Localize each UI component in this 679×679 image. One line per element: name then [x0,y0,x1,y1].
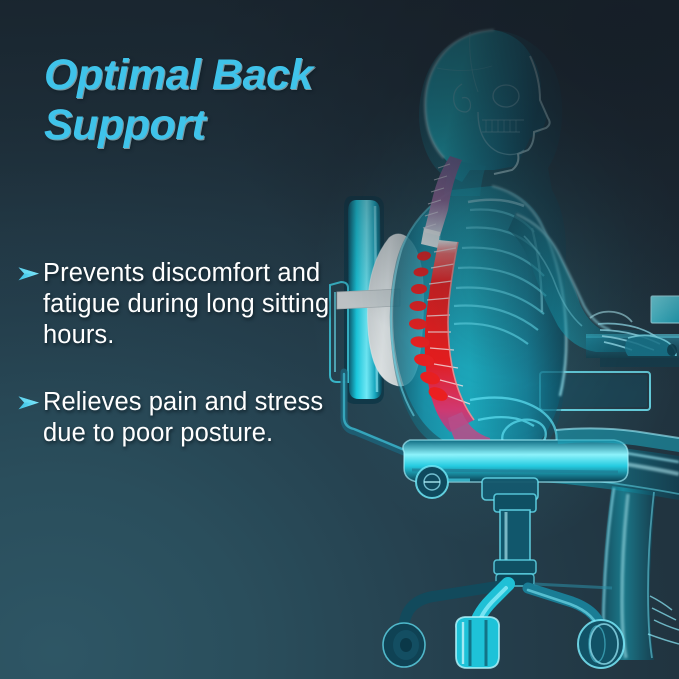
chevron-arrow-icon [17,394,41,412]
list-item-label: Relieves pain and stress due to poor pos… [43,387,347,449]
list-item: Relieves pain and stress due to poor pos… [17,387,347,449]
page-title-line-1: Optimal Back [44,51,313,99]
infographic-canvas: Optimal BackSupport [0,0,679,679]
page-title: Optimal BackSupport [44,50,354,150]
list-item: Prevents discomfort and fatigue during l… [17,258,347,351]
chevron-arrow-icon [17,265,41,283]
page-title-line-2: Support [44,101,205,149]
list-item-label: Prevents discomfort and fatigue during l… [43,258,347,351]
benefit-list: Prevents discomfort and fatigue during l… [17,258,347,485]
